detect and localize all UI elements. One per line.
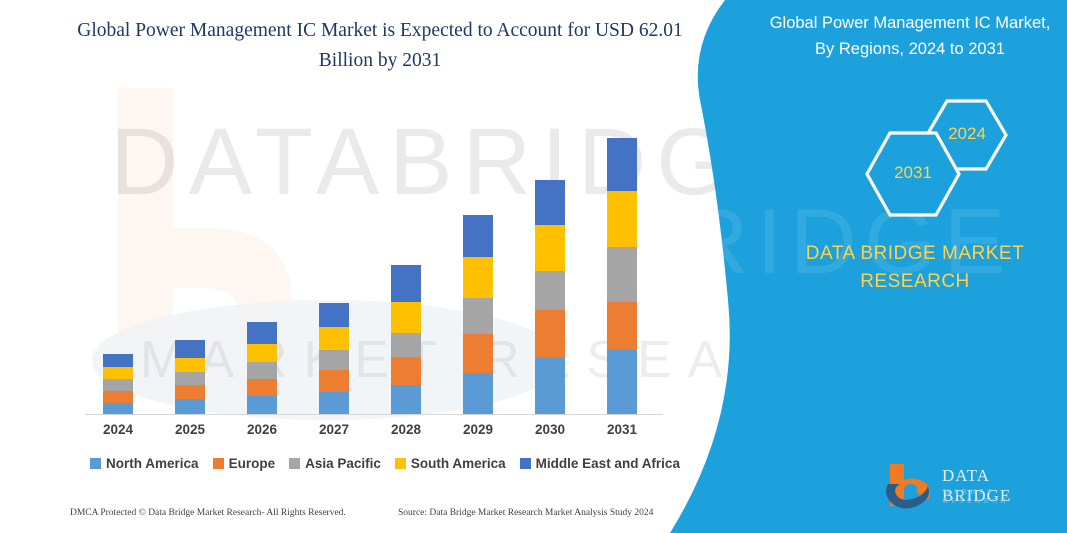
bar-segment <box>319 350 349 370</box>
stacked-bar-chart: 20242025202620272028202920302031 <box>85 110 675 415</box>
chart-x-axis <box>85 414 663 415</box>
bar-segment <box>607 302 637 350</box>
bar-segment <box>175 340 205 359</box>
bar-segment <box>319 370 349 391</box>
legend-item-south-america[interactable]: South America <box>395 456 506 471</box>
bar-segment <box>535 310 565 358</box>
bar-segment <box>175 385 205 399</box>
panel-brand-line1: DATA BRIDGE MARKET <box>770 240 1060 268</box>
legend-label: South America <box>411 456 506 471</box>
hexagon-2031-label: 2031 <box>873 163 953 183</box>
legend-label: North America <box>106 456 199 471</box>
panel-brand: DATA BRIDGE MARKET RESEARCH <box>770 240 1060 296</box>
x-tick-label-2029: 2029 <box>448 422 508 437</box>
bar-segment <box>535 225 565 271</box>
bar-segment <box>319 303 349 327</box>
bar-segment <box>607 350 637 414</box>
x-tick-label-2031: 2031 <box>592 422 652 437</box>
legend-item-north-america[interactable]: North America <box>90 456 199 471</box>
chart-plot-area <box>85 114 663 414</box>
company-logo: DATA BRIDGE MARKET RESEARCH <box>880 462 1055 514</box>
bar-column-2024 <box>103 354 133 414</box>
legend-swatch-icon <box>395 458 406 469</box>
x-tick-label-2024: 2024 <box>88 422 148 437</box>
legend-swatch-icon <box>213 458 224 469</box>
bar-segment <box>319 327 349 350</box>
bar-column-2031 <box>607 138 637 414</box>
bar-column-2025 <box>175 340 205 414</box>
panel-brand-line2: RESEARCH <box>770 268 1060 296</box>
legend-item-asia-pacific[interactable]: Asia Pacific <box>289 456 381 471</box>
right-panel: RIDGE Global Power Management IC Market,… <box>670 0 1067 533</box>
bar-segment <box>463 373 493 414</box>
legend-label: Middle East and Africa <box>536 456 680 471</box>
x-tick-label-2030: 2030 <box>520 422 580 437</box>
bar-segment <box>463 257 493 298</box>
bar-column-2027 <box>319 303 349 414</box>
bar-segment <box>103 391 133 403</box>
legend-swatch-icon <box>289 458 300 469</box>
chart-x-tick-labels: 20242025202620272028202920302031 <box>85 422 663 442</box>
legend-label: Europe <box>229 456 276 471</box>
bar-segment <box>103 403 133 414</box>
chart-legend: North AmericaEuropeAsia PacificSouth Ame… <box>85 456 685 471</box>
bar-segment <box>391 333 421 358</box>
panel-title: Global Power Management IC Market, By Re… <box>765 10 1055 62</box>
x-tick-label-2028: 2028 <box>376 422 436 437</box>
bar-segment <box>175 358 205 372</box>
logo-tagline: MARKET RESEARCH <box>943 487 1055 505</box>
data-bridge-logo-icon <box>880 462 938 510</box>
page-title: Global Power Management IC Market is Exp… <box>70 16 690 76</box>
bar-segment <box>175 399 205 414</box>
bar-segment <box>607 191 637 246</box>
bar-segment <box>247 396 277 414</box>
footer: DMCA Protected © Data Bridge Market Rese… <box>0 508 700 528</box>
hexagon-group: 2024 2031 <box>770 95 1060 225</box>
hexagon-shapes-icon <box>770 95 1060 225</box>
bar-segment <box>391 357 421 385</box>
legend-swatch-icon <box>520 458 531 469</box>
bar-segment <box>463 215 493 257</box>
bar-segment <box>247 344 277 362</box>
bar-segment <box>391 385 421 414</box>
bar-column-2030 <box>535 180 565 414</box>
infographic-root: DATABRIDGE MARKET RESEARCH Global Power … <box>0 0 1067 533</box>
bar-segment <box>247 362 277 379</box>
bar-segment <box>175 372 205 385</box>
bar-segment <box>103 367 133 379</box>
legend-item-europe[interactable]: Europe <box>213 456 276 471</box>
bar-segment <box>247 322 277 344</box>
bar-column-2028 <box>391 265 421 414</box>
bar-segment <box>535 180 565 225</box>
bar-column-2029 <box>463 215 493 414</box>
bar-segment <box>463 334 493 373</box>
bar-segment <box>247 379 277 396</box>
bar-segment <box>103 379 133 391</box>
bar-segment <box>463 298 493 334</box>
x-tick-label-2027: 2027 <box>304 422 364 437</box>
bar-segment <box>103 354 133 367</box>
hexagon-2024-label: 2024 <box>927 124 1007 144</box>
bar-segment <box>535 271 565 310</box>
bar-segment <box>319 392 349 414</box>
legend-label: Asia Pacific <box>305 456 381 471</box>
legend-swatch-icon <box>90 458 101 469</box>
x-tick-label-2026: 2026 <box>232 422 292 437</box>
bar-segment <box>391 265 421 302</box>
bar-column-2026 <box>247 322 277 414</box>
legend-item-middle-east-and-africa[interactable]: Middle East and Africa <box>520 456 680 471</box>
footer-copyright: DMCA Protected © Data Bridge Market Rese… <box>70 508 346 518</box>
bar-segment <box>607 247 637 302</box>
x-tick-label-2025: 2025 <box>160 422 220 437</box>
bar-segment <box>535 358 565 414</box>
bar-segment <box>607 138 637 192</box>
footer-source: Source: Data Bridge Market Research Mark… <box>398 508 653 518</box>
bar-segment <box>391 302 421 333</box>
